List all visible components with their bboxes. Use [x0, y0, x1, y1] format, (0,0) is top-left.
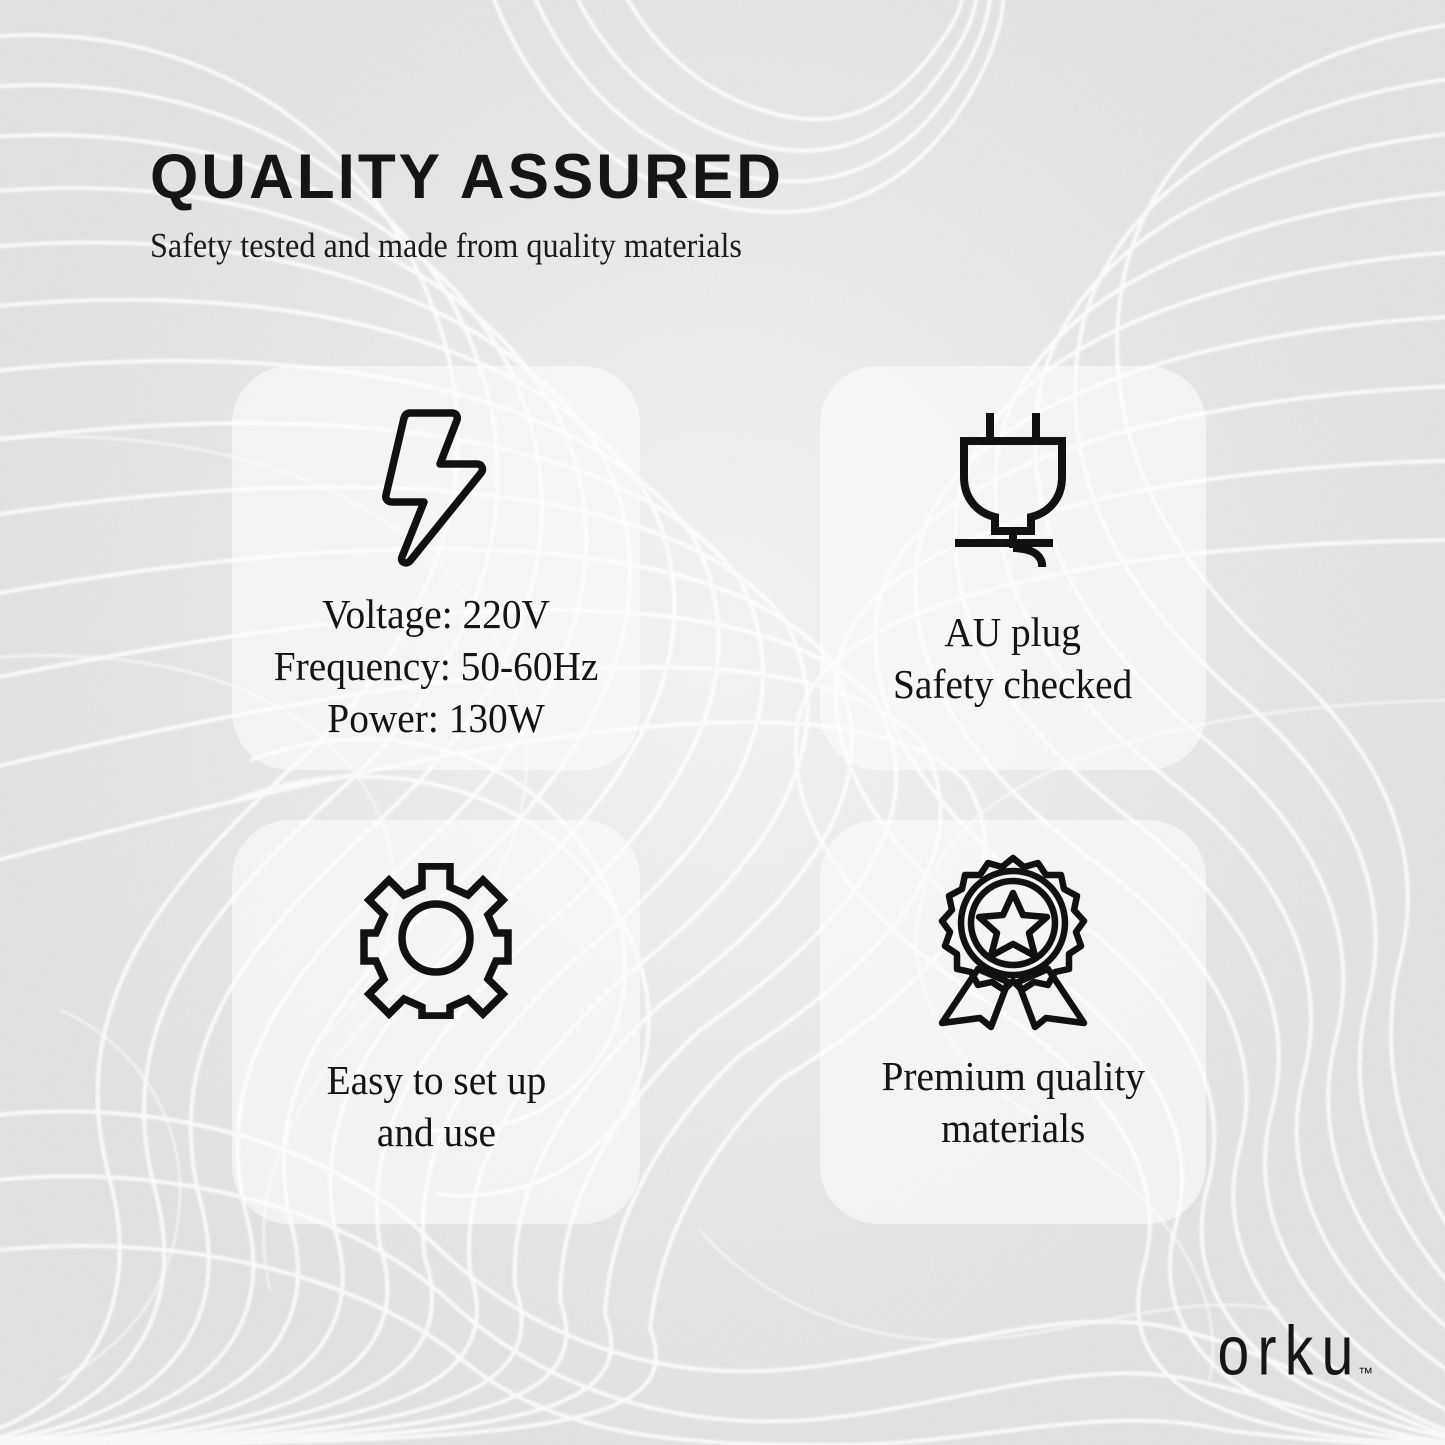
- card-text-specifications: Voltage: 220V Frequency: 50-60Hz Power: …: [274, 588, 599, 744]
- spec-line-frequency: Frequency: 50-60Hz: [274, 640, 599, 692]
- feature-card-specifications: Voltage: 220V Frequency: 50-60Hz Power: …: [232, 366, 640, 770]
- gear-icon: [358, 846, 514, 1036]
- header-block: QUALITY ASSURED Safety tested and made f…: [150, 146, 1050, 268]
- setup-line-2: and use: [326, 1106, 546, 1158]
- setup-line-1: Easy to set up: [326, 1054, 546, 1106]
- power-plug-icon: [949, 392, 1077, 582]
- award-badge-icon: [928, 846, 1098, 1036]
- card-text-plug: AU plug Safety checked: [893, 606, 1132, 710]
- feature-card-setup: Easy to set up and use: [232, 820, 640, 1224]
- feature-card-quality: Premium quality materials: [820, 820, 1206, 1224]
- lightning-bolt-icon: [380, 392, 492, 582]
- plug-line-safety: Safety checked: [893, 658, 1132, 710]
- card-text-quality: Premium quality materials: [881, 1050, 1144, 1154]
- feature-card-plug: AU plug Safety checked: [820, 366, 1206, 770]
- quality-line-1: Premium quality: [881, 1050, 1144, 1102]
- page-subtitle: Safety tested and made from quality mate…: [150, 224, 978, 268]
- brand-logo-wordmark: orku: [1218, 1318, 1362, 1387]
- spec-line-voltage: Voltage: 220V: [274, 588, 599, 640]
- spec-line-power: Power: 130W: [274, 692, 599, 744]
- page-title: QUALITY ASSURED: [150, 146, 1037, 208]
- brand-logo: orku ™: [1205, 1325, 1373, 1387]
- plug-line-type: AU plug: [893, 606, 1132, 658]
- card-text-setup: Easy to set up and use: [326, 1054, 546, 1158]
- infographic-page: QUALITY ASSURED Safety tested and made f…: [0, 0, 1445, 1445]
- quality-line-2: materials: [881, 1102, 1144, 1154]
